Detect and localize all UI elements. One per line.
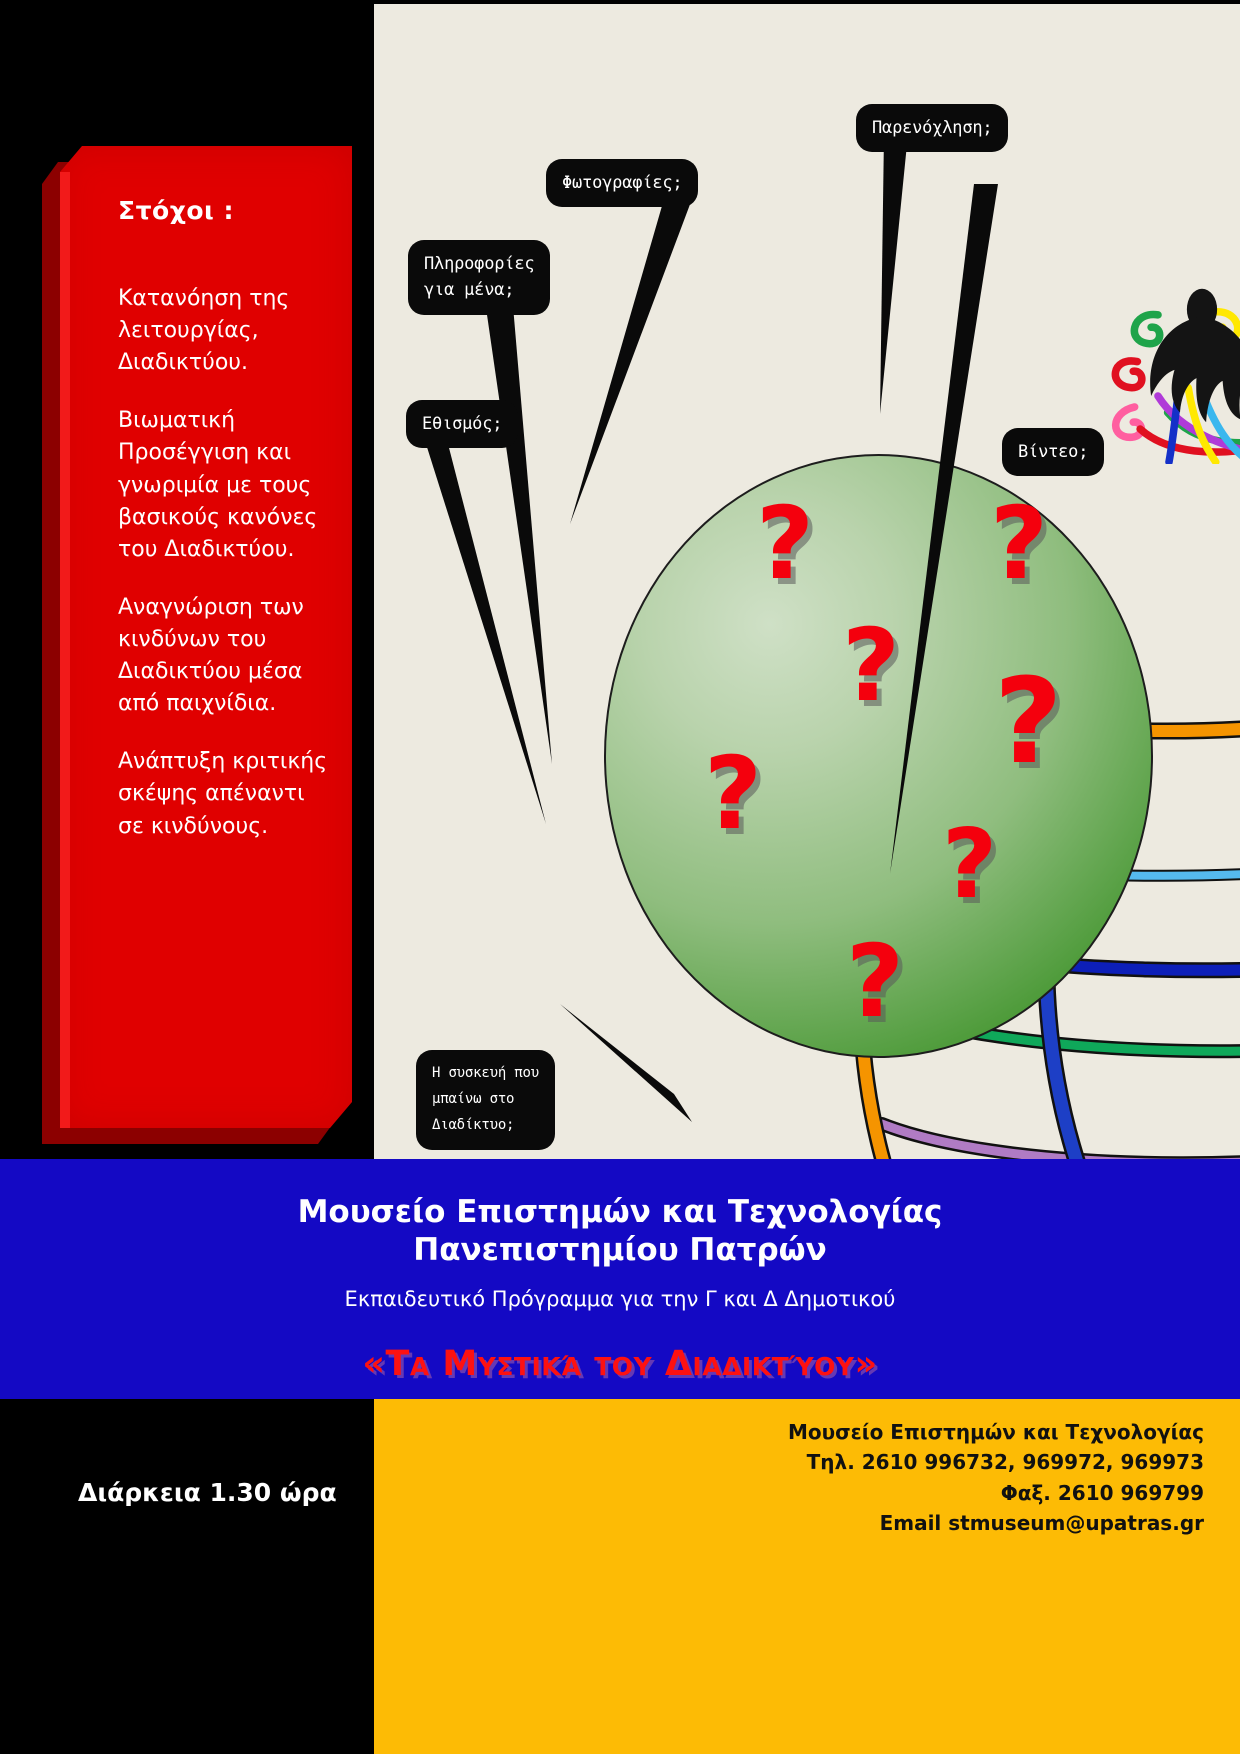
contact-phone: Τηλ. 2610 996732, 969972, 969973 xyxy=(404,1447,1204,1477)
bubble-parenoxlisi[interactable]: Παρενόχληση; xyxy=(856,104,1008,152)
artwork-panel: ? ? ? ? ? ? ? xyxy=(374,4,1240,1159)
contact-name: Μουσείο Επιστημών και Τεχνολογίας xyxy=(404,1417,1204,1447)
objectives-box: Στόχοι : Κατανόηση της λειτουργίας, Διαδ… xyxy=(60,146,352,1128)
contact-footer: Μουσείο Επιστημών και Τεχνολογίας Τηλ. 2… xyxy=(374,1399,1240,1754)
contact-email[interactable]: Email stmuseum@upatras.gr xyxy=(404,1508,1204,1538)
objective-item: Αναγνώριση των κινδύνων του Διαδικτύου μ… xyxy=(118,592,328,720)
objective-item: Βιωματική Προσέγγιση και γνωριμία με του… xyxy=(118,405,328,566)
museum-title-line2: Πανεπιστημίου Πατρών xyxy=(0,1231,1240,1269)
bubble-fotografies[interactable]: Φωτογραφίες; xyxy=(546,159,698,207)
program-title: «Τα Μυστικά του Διαδικτύου» xyxy=(0,1344,1240,1384)
program-subtitle: Εκπαιδευτικό Πρόγραμμα για την Γ και Δ Δ… xyxy=(0,1287,1240,1311)
museum-title-line1: Μουσείο Επιστημών και Τεχνολογίας xyxy=(0,1193,1240,1231)
objective-item: Κατανόηση της λειτουργίας, Διαδικτύου. xyxy=(118,283,328,379)
museum-title: Μουσείο Επιστημών και Τεχνολογίας Πανεπι… xyxy=(0,1193,1240,1270)
bubble-tails xyxy=(374,4,1240,1159)
objectives-title: Στόχοι : xyxy=(118,196,328,225)
bubble-plirofories[interactable]: Πληροφορίες για μένα; xyxy=(408,240,550,315)
blue-banner: Μουσείο Επιστημών και Τεχνολογίας Πανεπι… xyxy=(0,1159,1240,1399)
bubble-ethismos[interactable]: Εθισμός; xyxy=(406,400,518,448)
objective-item: Ανάπτυξη κριτικής σκέψης απέναντι σε κιν… xyxy=(118,746,328,842)
poster-root: ? ? ? ? ? ? ? xyxy=(0,0,1240,1754)
bubble-vinteo[interactable]: Βίντεο; xyxy=(1002,428,1104,476)
bubble-siskevi[interactable]: Η συσκευή που μπαίνω στο Διαδίκτυο; xyxy=(416,1050,555,1150)
objectives-box-edge xyxy=(60,172,70,1128)
contact-fax: Φαξ. 2610 969799 xyxy=(404,1478,1204,1508)
duration-label: Διάρκεια 1.30 ώρα xyxy=(78,1478,337,1507)
